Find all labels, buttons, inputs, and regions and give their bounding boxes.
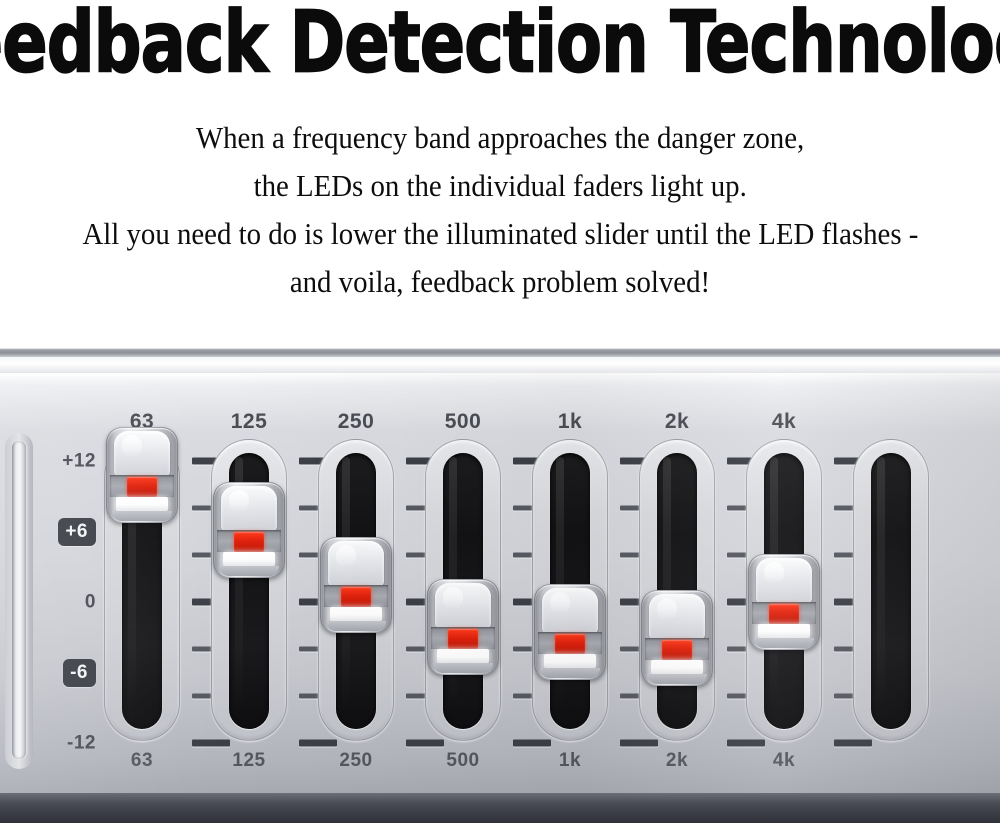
fader-knob-4k[interactable] (748, 554, 820, 650)
fader-glow-strip (116, 497, 168, 511)
fader-channel-4k[interactable]: 4k4k (738, 411, 830, 771)
fader-led-indicator (769, 604, 799, 624)
page-title: Feedback Detection Technology (0, 0, 1000, 86)
description-line-1: When a frequency band approaches the dan… (196, 114, 804, 162)
db-scale-label-plus12: +12 (62, 452, 96, 471)
fader-knob-63[interactable] (106, 427, 178, 523)
fader-knob-250[interactable] (320, 537, 392, 633)
fader-knob-cap (114, 431, 170, 477)
frequency-label-bottom-2k: 2k (631, 751, 723, 770)
fader-channel-63[interactable]: 6363 (96, 411, 188, 771)
fader-knob-foot (219, 566, 279, 576)
fader-channel-2k[interactable]: 2k2k (631, 411, 723, 771)
equalizer-panel-image: +12+60-6-12 63631251252502505005001k1k2k… (0, 348, 1000, 823)
frequency-label-bottom-500: 500 (417, 751, 509, 770)
fader-glow-strip (437, 649, 489, 663)
equalizer-faceplate: +12+60-6-12 63631251252502505005001k1k2k… (0, 373, 1000, 793)
description-line-4: and voila, feedback problem solved! (290, 258, 710, 306)
fader-knob-foot (540, 668, 600, 678)
chassis-top-rail-dark (0, 348, 1000, 357)
db-scale: +12+60-6-12 (34, 461, 96, 743)
frequency-label-top-2k: 2k (631, 411, 723, 432)
frequency-label-top-4k: 4k (738, 411, 830, 432)
fader-channel-partial[interactable] (845, 411, 937, 771)
fader-channel-500[interactable]: 500500 (417, 411, 509, 771)
description-block: When a frequency band approaches the dan… (0, 86, 1000, 341)
db-scale-label-0: 0 (85, 593, 96, 612)
fader-knob-cap (221, 486, 277, 532)
fader-channel-250[interactable]: 250250 (310, 411, 402, 771)
fader-knob-2k[interactable] (641, 590, 713, 686)
fader-led-indicator (555, 634, 585, 654)
fader-knob-cap (649, 594, 705, 640)
frequency-label-top-1k: 1k (524, 411, 616, 432)
fader-knob-500[interactable] (427, 579, 499, 675)
frequency-label-top-125: 125 (203, 411, 295, 432)
frequency-label-bottom-125: 125 (203, 751, 295, 770)
fader-knob-125[interactable] (213, 482, 285, 578)
frequency-label-bottom-4k: 4k (738, 751, 830, 770)
chassis-bottom-band (0, 793, 1000, 823)
frequency-label-bottom-250: 250 (310, 751, 402, 770)
fader-knob-cap (435, 583, 491, 629)
fader-knob-1k[interactable] (534, 584, 606, 680)
frequency-label-top-250: 250 (310, 411, 402, 432)
fader-channel-1k[interactable]: 1k1k (524, 411, 616, 771)
fader-led-indicator (127, 477, 157, 497)
fader-knob-foot (754, 638, 814, 648)
chassis-left-groove (12, 441, 26, 759)
fader-knob-cap (328, 541, 384, 587)
fader-led-indicator (448, 629, 478, 649)
fader-knob-foot (433, 663, 493, 673)
description-line-2: the LEDs on the individual faders light … (253, 162, 746, 210)
frequency-label-top-500: 500 (417, 411, 509, 432)
fader-knob-foot (647, 674, 707, 684)
fader-channel-125[interactable]: 125125 (203, 411, 295, 771)
db-scale-label-minus12: -12 (67, 734, 96, 753)
fader-knob-foot (326, 621, 386, 631)
fader-led-indicator (341, 587, 371, 607)
fader-glow-strip (758, 624, 810, 638)
db-scale-label-plus6: +6 (58, 518, 96, 546)
fader-glow-strip (544, 654, 596, 668)
chassis-top-rail-light (0, 357, 1000, 373)
fader-track[interactable] (871, 453, 911, 729)
description-line-3: All you need to do is lower the illumina… (82, 210, 918, 258)
fader-glow-strip (651, 660, 703, 674)
fader-led-indicator (662, 640, 692, 660)
db-scale-label-minus6: -6 (63, 659, 96, 687)
fader-led-indicator (234, 532, 264, 552)
fader-glow-strip (223, 552, 275, 566)
fader-glow-strip (330, 607, 382, 621)
page-title-text: Feedback Detection Technology (0, 1, 1000, 86)
frequency-label-bottom-1k: 1k (524, 751, 616, 770)
fader-knob-cap (756, 558, 812, 604)
fader-knob-foot (112, 511, 172, 521)
frequency-label-bottom-63: 63 (96, 751, 188, 770)
fader-knob-cap (542, 588, 598, 634)
